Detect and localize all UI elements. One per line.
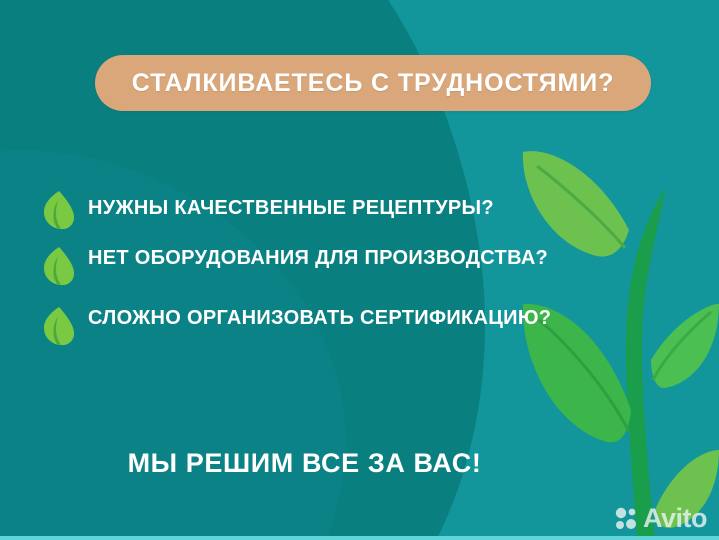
list-item: СЛОЖНО ОРГАНИЗОВАТЬ СЕРТИФИКАЦИЮ? [42,304,582,346]
list-item: НЕТ ОБОРУДОВАНИЯ ДЛЯ ПРОИЗВОДСТВА? [42,244,582,286]
headline-text: СТАЛКИВАЕТЕСЬ С ТРУДНОСТЯМИ? [132,69,615,98]
list-item-label: НЕТ ОБОРУДОВАНИЯ ДЛЯ ПРОИЗВОДСТВА? [88,244,548,271]
leaf-icon [42,246,76,286]
leaf-icon [42,190,76,230]
avito-dots-icon [614,506,640,532]
list-item-label: СЛОЖНО ОРГАНИЗОВАТЬ СЕРТИФИКАЦИЮ? [88,304,551,331]
headline-pill: СТАЛКИВАЕТЕСЬ С ТРУДНОСТЯМИ? [95,55,651,111]
bullet-list: НУЖНЫ КАЧЕСТВЕННЫЕ РЕЦЕПТУРЫ? НЕТ ОБОРУД… [42,188,582,360]
list-item: НУЖНЫ КАЧЕСТВЕННЫЕ РЕЦЕПТУРЫ? [42,188,582,230]
avito-watermark: Avito [614,505,707,532]
bottom-accent-strip [0,536,719,540]
promo-banner-canvas: СТАЛКИВАЕТЕСЬ С ТРУДНОСТЯМИ? НУЖНЫ КАЧЕС… [0,0,719,540]
cta-block: МЫ РЕШИМ ВСЕ ЗА ВАС! [0,448,719,479]
cta-text: МЫ РЕШИМ ВСЕ ЗА ВАС! [128,448,482,478]
leaf-icon [42,306,76,346]
list-item-label: НУЖНЫ КАЧЕСТВЕННЫЕ РЕЦЕПТУРЫ? [88,188,494,221]
avito-wordmark: Avito [643,505,707,532]
